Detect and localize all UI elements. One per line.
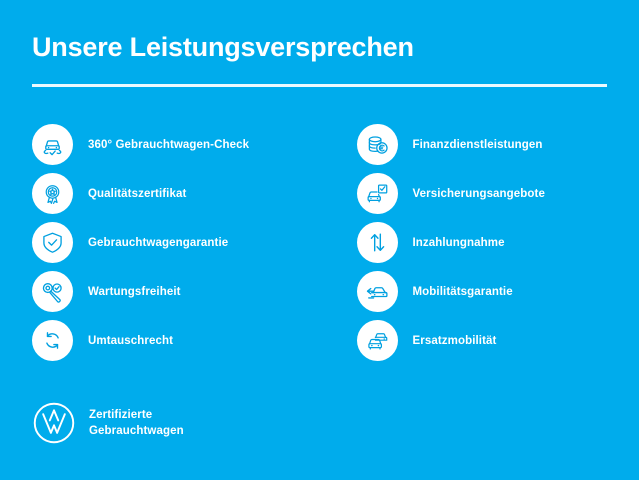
two-cars-icon [357, 320, 398, 361]
promise-item-finanzdienstleistungen[interactable]: Finanzdienstleistungen [357, 120, 639, 169]
promise-item-gebrauchtwagengarantie[interactable]: Gebrauchtwagengarantie [32, 218, 320, 267]
promise-label: Qualitätszertifikat [88, 187, 186, 201]
promises-columns: 360° Gebrauchtwagen-Check Qualitätszerti… [0, 120, 639, 365]
header: Unsere Leistungsversprechen [32, 30, 607, 64]
promise-label: 360° Gebrauchtwagen-Check [88, 138, 249, 152]
promise-item-umtauschrecht[interactable]: Umtauschrecht [32, 316, 320, 365]
promise-label: Finanzdienstleistungen [413, 138, 543, 152]
promise-item-mobilitaetsgarantie[interactable]: Mobilitätsgarantie [357, 267, 639, 316]
exchange-arrows-icon [32, 320, 73, 361]
promise-item-inzahlungnahme[interactable]: Inzahlungnahme [357, 218, 639, 267]
footer-text: Zertifizierte Gebrauchtwagen [89, 407, 184, 439]
promise-label: Wartungsfreiheit [88, 285, 181, 299]
header-divider [32, 84, 607, 87]
promise-item-qualitaetszertifikat[interactable]: Qualitätszertifikat [32, 169, 320, 218]
footer-line-2: Gebrauchtwagen [89, 423, 184, 439]
promise-item-ersatzmobilitaet[interactable]: Ersatzmobilität [357, 316, 639, 365]
shield-check-icon [32, 222, 73, 263]
arrows-up-down-icon [357, 222, 398, 263]
wrench-check-icon [32, 271, 73, 312]
promise-item-wartungsfreiheit[interactable]: Wartungsfreiheit [32, 267, 320, 316]
promises-panel: Unsere Leistungsversprechen 3 [0, 0, 639, 480]
promise-label: Ersatzmobilität [413, 334, 497, 348]
promise-item-gebrauchtwagen-check[interactable]: 360° Gebrauchtwagen-Check [32, 120, 320, 169]
coins-euro-icon [357, 124, 398, 165]
award-rosette-icon [32, 173, 73, 214]
car-check-360-icon [32, 124, 73, 165]
promise-label: Umtauschrecht [88, 334, 173, 348]
promise-label: Versicherungsangebote [413, 187, 545, 201]
promise-label: Mobilitätsgarantie [413, 285, 513, 299]
promises-right-column: Finanzdienstleistungen [320, 120, 639, 365]
footer-line-1: Zertifizierte [89, 407, 184, 423]
promise-label: Gebrauchtwagengarantie [88, 236, 228, 250]
car-arrow-icon [357, 271, 398, 312]
page-title: Unsere Leistungsversprechen [32, 30, 607, 64]
car-document-check-icon [357, 173, 398, 214]
vw-logo-icon [32, 401, 76, 445]
promises-left-column: 360° Gebrauchtwagen-Check Qualitätszerti… [0, 120, 320, 365]
promise-item-versicherungsangebote[interactable]: Versicherungsangebote [357, 169, 639, 218]
promise-label: Inzahlungnahme [413, 236, 505, 250]
footer-brand: Zertifizierte Gebrauchtwagen [32, 401, 184, 445]
